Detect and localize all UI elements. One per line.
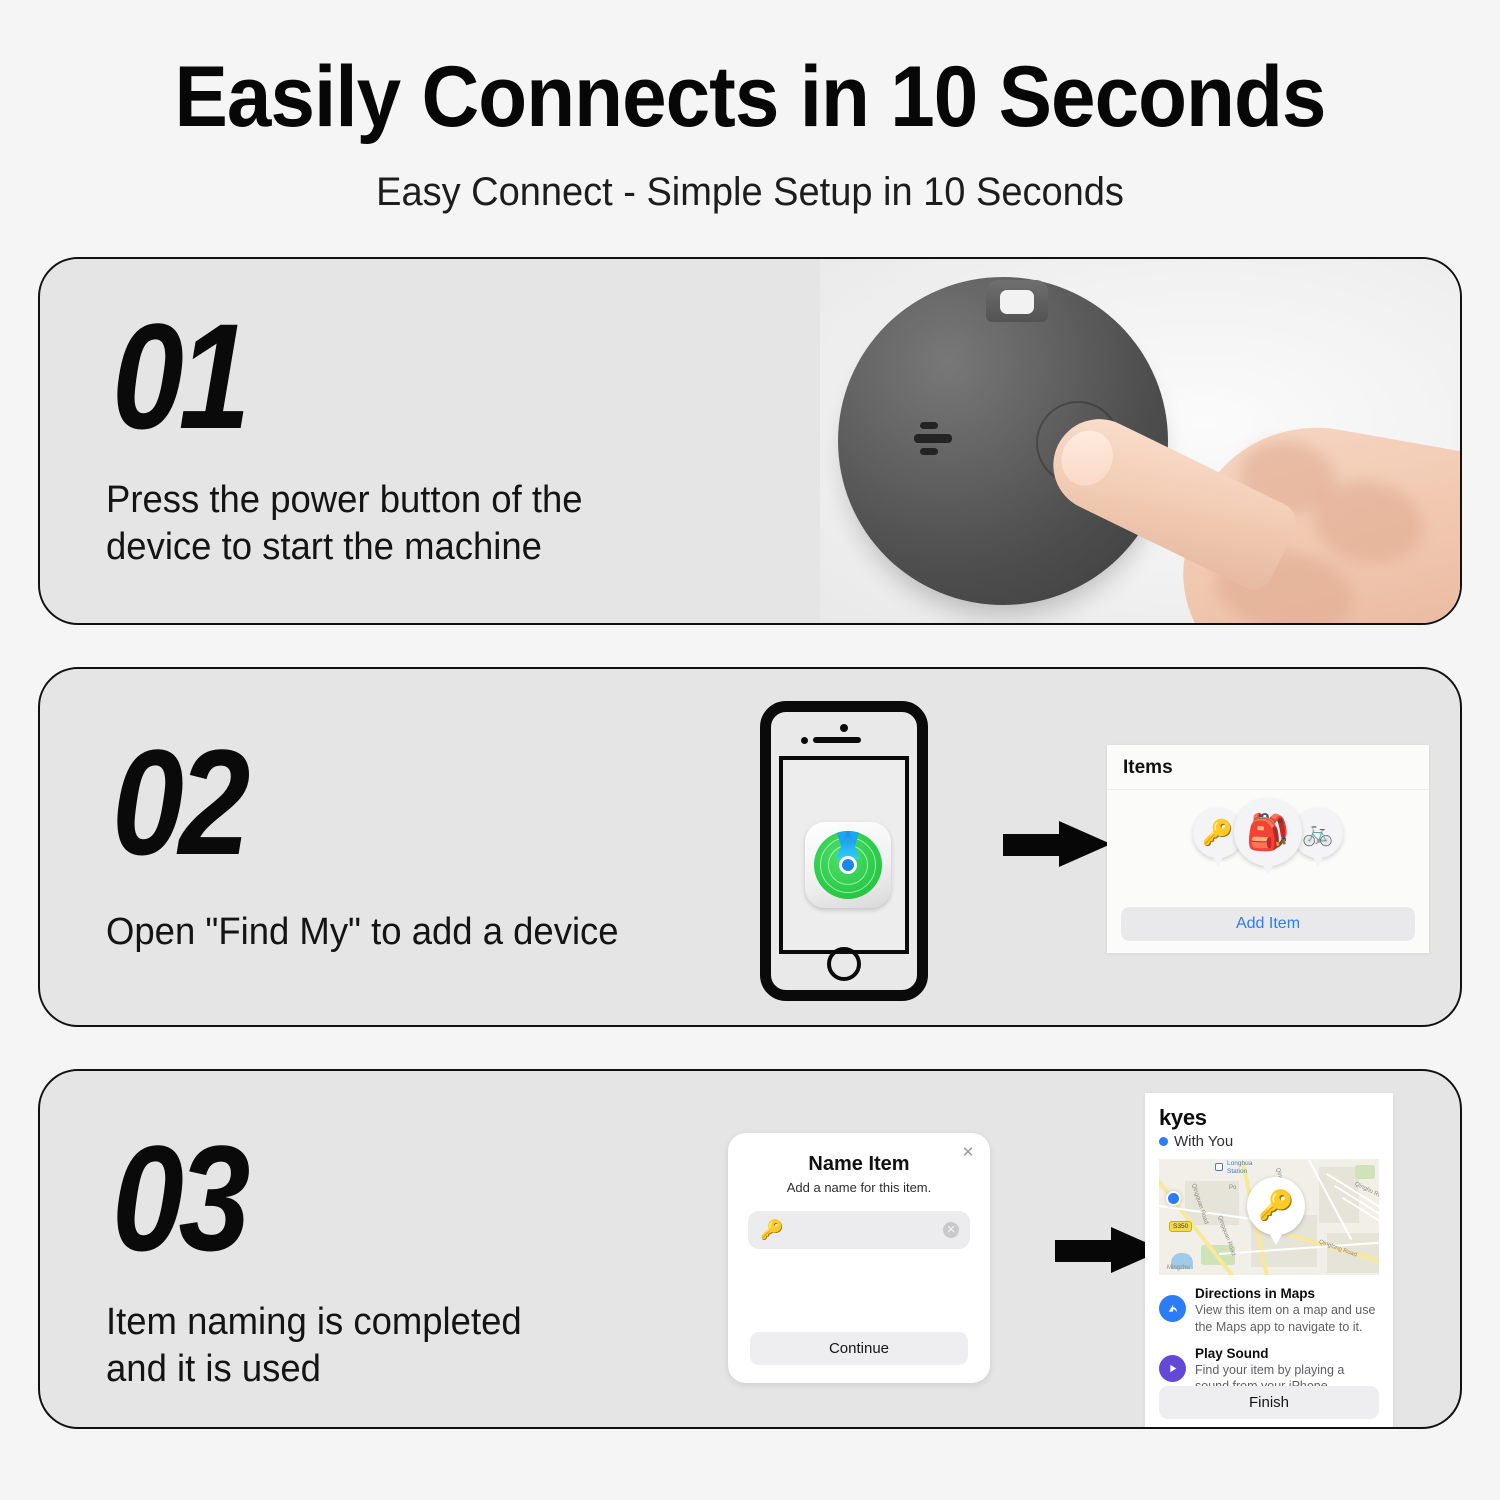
page-subtitle: Easy Connect - Simple Setup in 10 Second… <box>38 170 1463 215</box>
find-my-app-icon[interactable] <box>805 822 891 908</box>
proximity-sensor-icon <box>840 724 848 732</box>
item-detail-title: kyes <box>1159 1105 1379 1131</box>
page-header: Easily Connects in 10 Seconds Easy Conne… <box>0 0 1500 215</box>
name-item-title: Name Item <box>728 1133 990 1176</box>
item-status: With You <box>1159 1133 1379 1150</box>
item-name-input[interactable]: 🔑 ✕ <box>748 1211 970 1249</box>
items-panel: Items 🔑 🎒 🚲 Add Item <box>1107 745 1429 953</box>
action-desc-directions: View this item on a map and use the Maps… <box>1195 1302 1379 1335</box>
flow-arrow-icon <box>1003 821 1111 867</box>
front-camera-icon <box>801 737 808 744</box>
map-label-po: Po <box>1229 1185 1236 1191</box>
speaker-grille-icon <box>914 417 956 460</box>
step-card-03: 03 Item naming is completed and it is us… <box>38 1069 1462 1429</box>
step-number-01: 01 <box>112 301 245 451</box>
iphone-mockup <box>760 701 928 1001</box>
hand-pressing-button <box>1058 375 1460 623</box>
action-title-directions: Directions in Maps <box>1195 1286 1379 1301</box>
action-row-directions[interactable]: Directions in Maps View this item on a m… <box>1159 1286 1379 1335</box>
map-label-station: Station <box>1227 1168 1247 1175</box>
earpiece-speaker-icon <box>813 737 861 743</box>
home-button[interactable] <box>827 947 861 981</box>
clear-input-icon[interactable]: ✕ <box>943 1222 959 1238</box>
name-item-dialog: ✕ Name Item Add a name for this item. 🔑 … <box>728 1133 990 1383</box>
map-label-mingzhu: Mingzhu <box>1167 1265 1190 1271</box>
play-sound-icon <box>1159 1355 1186 1382</box>
map-label-longhua: Longhua <box>1227 1160 1252 1167</box>
finish-button[interactable]: Finish <box>1159 1386 1379 1419</box>
highway-badge: S350 <box>1169 1221 1192 1232</box>
status-dot-icon <box>1159 1137 1168 1146</box>
tracker-photo <box>820 259 1460 623</box>
step-card-02: 02 Open "Find My" to add a device <box>38 667 1462 1027</box>
item-pin-backpack[interactable]: 🎒 <box>1234 798 1302 866</box>
step-text-03: Item naming is completed and it is used <box>106 1299 522 1392</box>
step-text-01: Press the power button of the device to … <box>106 477 583 570</box>
close-icon[interactable]: ✕ <box>960 1145 976 1161</box>
map-view[interactable]: Longhua Station Qingquan Road Qinghu Roa… <box>1159 1159 1379 1275</box>
station-icon <box>1215 1163 1223 1171</box>
item-pins-group: 🔑 🎒 🚲 <box>1107 790 1429 890</box>
keyring-loop-icon <box>986 280 1048 322</box>
item-name-input-value: 🔑 <box>760 1218 784 1242</box>
radar-graphic <box>814 831 882 899</box>
page-title: Easily Connects in 10 Seconds <box>53 52 1448 142</box>
continue-button[interactable]: Continue <box>750 1332 968 1365</box>
index-finger <box>1038 404 1303 596</box>
item-status-label: With You <box>1174 1133 1233 1150</box>
add-item-button[interactable]: Add Item <box>1121 907 1415 941</box>
items-panel-title: Items <box>1107 745 1429 790</box>
step-number-03: 03 <box>112 1123 245 1273</box>
item-detail-panel: kyes With You <box>1145 1093 1393 1429</box>
navigation-arrow-icon <box>1159 1295 1186 1322</box>
action-title-play-sound: Play Sound <box>1195 1346 1379 1361</box>
step-card-01: 01 Press the power button of the device … <box>38 257 1462 625</box>
fingernail <box>1052 422 1121 494</box>
step-number-02: 02 <box>112 727 245 877</box>
steps-container: 01 Press the power button of the device … <box>0 257 1500 1429</box>
phone-screen <box>779 756 909 954</box>
name-item-subtitle: Add a name for this item. <box>728 1180 990 1195</box>
item-map-pin[interactable]: 🔑 <box>1247 1177 1305 1235</box>
step-text-02: Open "Find My" to add a device <box>106 909 619 955</box>
